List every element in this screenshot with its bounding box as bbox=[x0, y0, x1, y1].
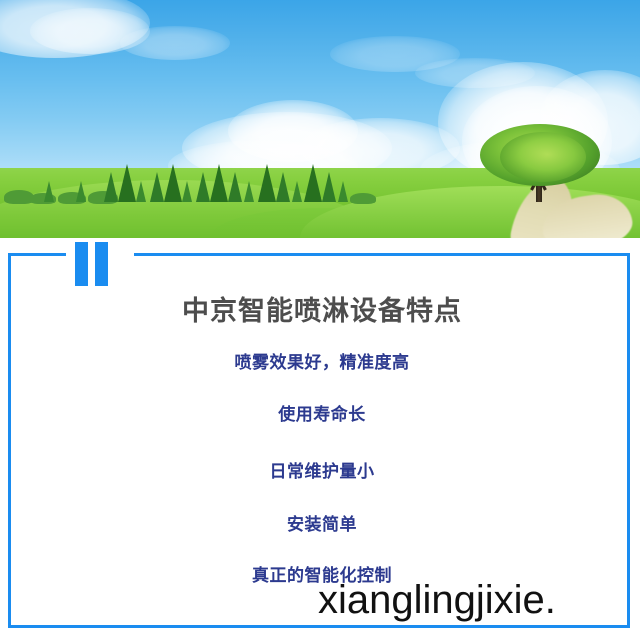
feature-list: 喷雾效果好，精准度高 使用寿命长 日常维护量小 安装简单 真正的智能化控制 bbox=[11, 348, 633, 586]
conifer-tree-icon bbox=[44, 181, 54, 202]
conifer-tree-icon bbox=[136, 181, 146, 202]
conifer-tree-icon bbox=[210, 164, 228, 202]
feature-item: 日常维护量小 bbox=[11, 457, 633, 482]
conifer-tree-icon bbox=[292, 181, 302, 202]
page-root: 中京智能喷淋设备特点 喷雾效果好，精准度高 使用寿命长 日常维护量小 安装简单 … bbox=[0, 0, 640, 640]
conifer-treeline bbox=[0, 156, 380, 202]
conifer-tree-icon bbox=[276, 172, 290, 202]
content-frame: 中京智能喷淋设备特点 喷雾效果好，精准度高 使用寿命长 日常维护量小 安装简单 … bbox=[8, 253, 630, 628]
large-tree-icon bbox=[480, 124, 600, 210]
accent-bar-icon bbox=[75, 242, 88, 286]
conifer-tree-icon bbox=[258, 164, 276, 202]
conifer-tree-icon bbox=[164, 164, 182, 202]
accent-bar-icon bbox=[95, 242, 108, 286]
conifer-tree-icon bbox=[196, 172, 210, 202]
conifer-tree-icon bbox=[150, 172, 164, 202]
accent-bars-decoration bbox=[75, 242, 109, 286]
conifer-tree-icon bbox=[244, 181, 254, 202]
page-title: 中京智能喷淋设备特点 bbox=[11, 289, 633, 328]
conifer-tree-icon bbox=[76, 181, 86, 202]
conifer-tree-icon bbox=[118, 164, 136, 202]
hero-banner-image bbox=[0, 0, 640, 238]
bush-icon bbox=[350, 193, 376, 204]
conifer-tree-icon bbox=[182, 181, 192, 202]
conifer-tree-icon bbox=[322, 172, 336, 202]
conifer-tree-icon bbox=[338, 181, 348, 202]
conifer-tree-icon bbox=[228, 172, 242, 202]
feature-item: 使用寿命长 bbox=[11, 400, 633, 425]
watermark-text: xianglingjixie. bbox=[318, 575, 630, 625]
conifer-tree-icon bbox=[304, 164, 322, 202]
tree-canopy-highlight bbox=[500, 132, 586, 182]
feature-item: 安装简单 bbox=[11, 510, 633, 535]
conifer-tree-icon bbox=[104, 172, 118, 202]
feature-item: 喷雾效果好，精准度高 bbox=[11, 348, 633, 373]
